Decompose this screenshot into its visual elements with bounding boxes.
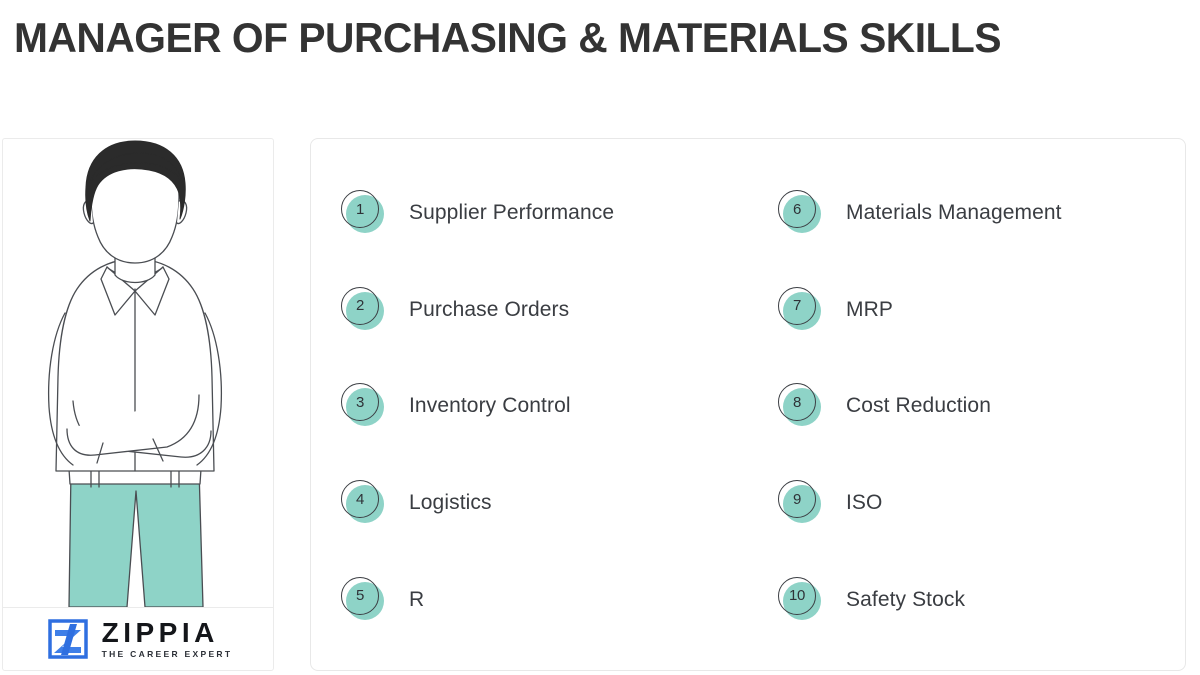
badge-ring-circle: 5	[341, 577, 379, 615]
page-title: MANAGER OF PURCHASING & MATERIALS SKILLS	[14, 12, 1139, 64]
skill-item-2: 2 Purchase Orders	[311, 262, 748, 359]
skill-badge-7: 7	[778, 287, 824, 333]
skill-item-1: 1 Supplier Performance	[311, 165, 748, 262]
skills-list: 1 Supplier Performance 2 Purchase Orders…	[311, 139, 1185, 670]
skill-item-3: 3 Inventory Control	[311, 358, 748, 455]
skill-badge-3: 3	[341, 383, 387, 429]
skill-item-5: 5 R	[311, 551, 748, 648]
skill-badge-8: 8	[778, 383, 824, 429]
badge-ring-circle: 7	[778, 287, 816, 325]
skill-badge-1: 1	[341, 190, 387, 236]
illustration-panel: ZIPPIA THE CAREER EXPERT	[2, 138, 274, 671]
badge-number: 6	[793, 202, 801, 217]
skill-badge-10: 10	[778, 577, 824, 623]
skill-badge-2: 2	[341, 287, 387, 333]
skill-item-4: 4 Logistics	[311, 455, 748, 552]
skill-item-10: 10 Safety Stock	[748, 551, 1185, 648]
badge-number: 2	[356, 298, 364, 313]
badge-number: 8	[793, 395, 801, 410]
zippia-z-logo-icon	[46, 617, 90, 661]
badge-ring-circle: 10	[778, 577, 816, 615]
skill-label: Materials Management	[846, 200, 1062, 226]
badge-number: 4	[356, 492, 364, 507]
skill-label: ISO	[846, 490, 882, 516]
badge-number: 10	[789, 588, 805, 603]
skill-item-8: 8 Cost Reduction	[748, 358, 1185, 455]
badge-ring-circle: 4	[341, 480, 379, 518]
skill-item-7: 7 MRP	[748, 262, 1185, 359]
skill-badge-9: 9	[778, 480, 824, 526]
badge-ring-circle: 2	[341, 287, 379, 325]
zippia-tagline: THE CAREER EXPERT	[102, 648, 233, 660]
skill-label: Cost Reduction	[846, 393, 991, 419]
skill-badge-4: 4	[341, 480, 387, 526]
skill-label: Inventory Control	[409, 393, 571, 419]
badge-number: 7	[793, 298, 801, 313]
badge-number: 3	[356, 395, 364, 410]
badge-number: 5	[356, 588, 364, 603]
skill-label: Safety Stock	[846, 587, 965, 613]
badge-number: 1	[356, 202, 364, 217]
skill-label: Purchase Orders	[409, 297, 569, 323]
skill-item-9: 9 ISO	[748, 455, 1185, 552]
skill-label: R	[409, 587, 424, 613]
skill-badge-5: 5	[341, 577, 387, 623]
person-arms-crossed-illustration	[3, 139, 274, 607]
skill-item-6: 6 Materials Management	[748, 165, 1185, 262]
skills-card: 1 Supplier Performance 2 Purchase Orders…	[310, 138, 1186, 671]
skill-badge-6: 6	[778, 190, 824, 236]
badge-number: 9	[793, 492, 801, 507]
skill-label: MRP	[846, 297, 893, 323]
zippia-wordmark: ZIPPIA	[102, 618, 233, 647]
skill-label: Supplier Performance	[409, 200, 614, 226]
skill-label: Logistics	[409, 490, 492, 516]
badge-ring-circle: 9	[778, 480, 816, 518]
zippia-logo: ZIPPIA THE CAREER EXPERT	[3, 608, 274, 670]
